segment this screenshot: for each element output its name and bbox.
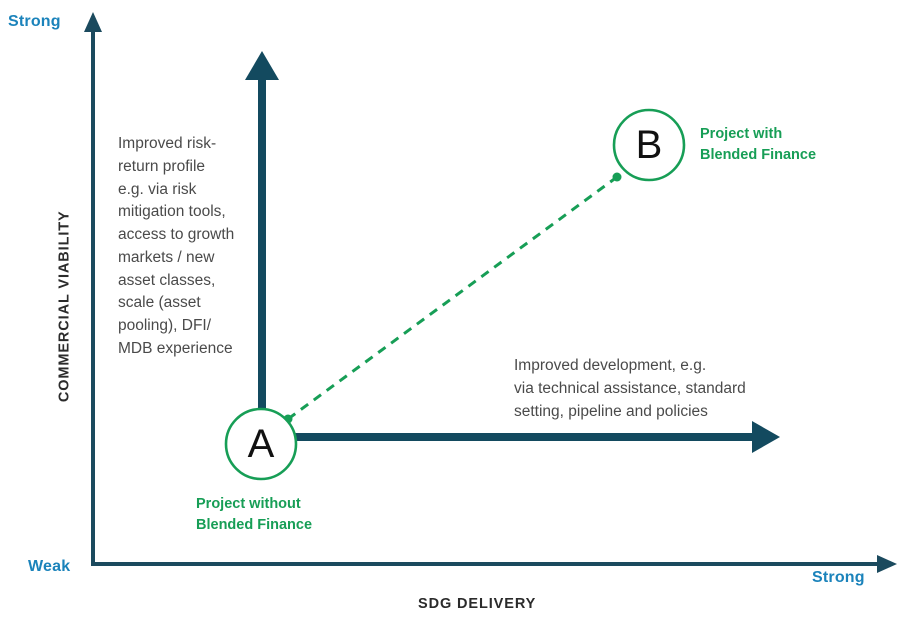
annotation-commercial-viability: Improved risk- return profile e.g. via r…: [118, 133, 258, 361]
y-axis-high-label: Strong: [8, 12, 61, 32]
commercial-viability-vector-arrowhead-icon: [245, 51, 279, 80]
y-axis-title: COMMERCIAL VIABILITY: [56, 196, 75, 416]
y-axis-arrowhead-icon: [84, 12, 102, 32]
x-axis-arrowhead-icon: [877, 555, 897, 573]
node-label-b: B: [613, 109, 685, 181]
sdg-delivery-vector-arrowhead-icon: [752, 421, 780, 453]
node-caption-a: Project without Blended Finance: [196, 494, 312, 535]
x-axis-high-label: Strong: [812, 568, 865, 588]
x-axis-title: SDG DELIVERY: [418, 595, 536, 614]
node-caption-b: Project with Blended Finance: [700, 124, 816, 165]
x-axis-low-label: Weak: [28, 557, 70, 577]
annotation-sdg-delivery: Improved development, e.g. via technical…: [514, 355, 784, 423]
node-label-a: A: [225, 408, 297, 480]
diagram-canvas: A B Strong Weak Strong SDG DELIVERY COMM…: [0, 0, 900, 628]
